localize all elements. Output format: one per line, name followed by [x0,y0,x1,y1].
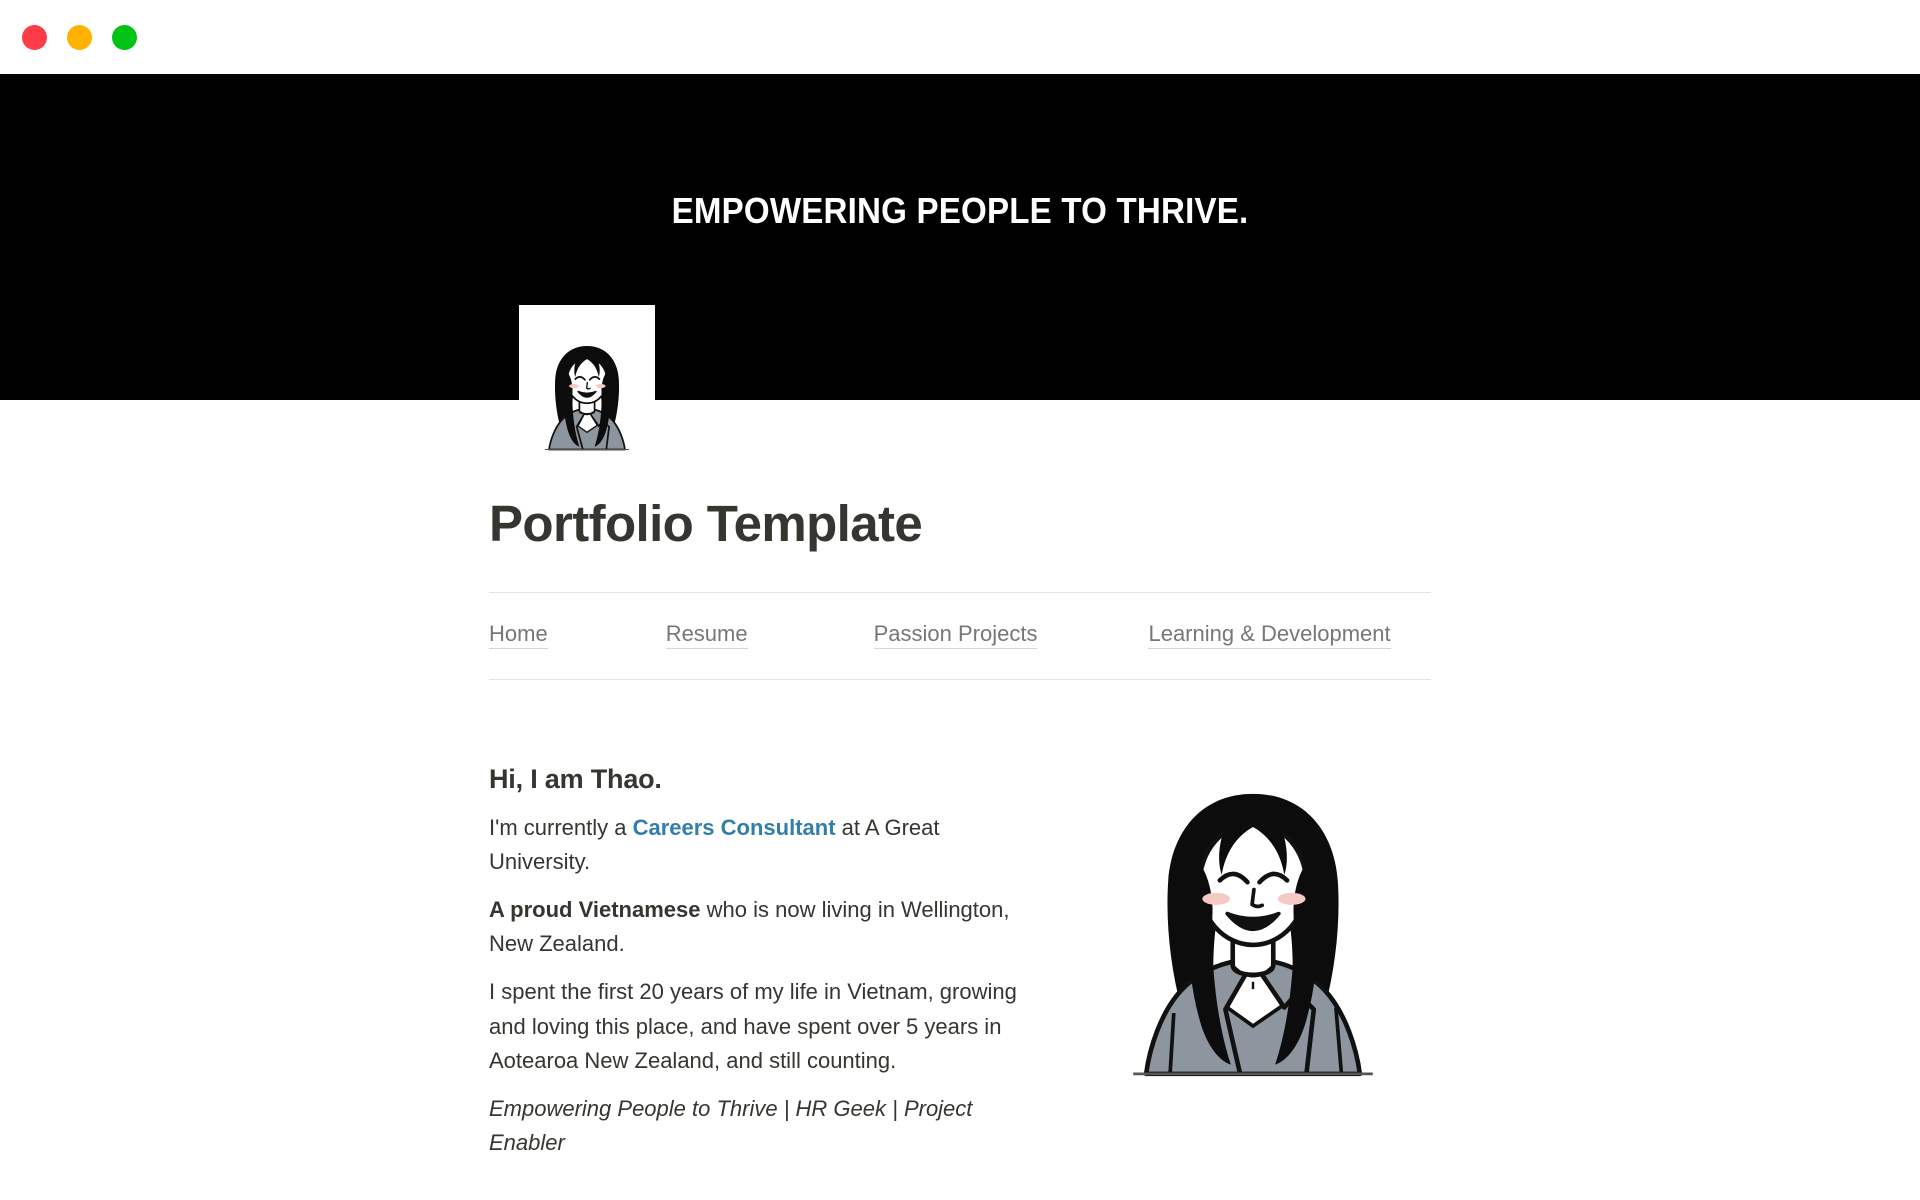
intro-text-column: Hi, I am Thao. I'm currently a Careers C… [489,764,1034,1174]
intro-paragraph-origin: A proud Vietnamese who is now living in … [489,893,1034,961]
intro-tagline: Empowering People to Thrive | HR Geek | … [489,1092,1034,1160]
page-content: Portfolio Template Home Resume Passion P… [489,400,1431,1174]
hero-tagline: EMPOWERING PEOPLE TO THRIVE. [77,190,1843,232]
minimize-window-button[interactable] [67,25,92,50]
avatar-illustration-icon [521,307,653,472]
nav-item-passion-projects[interactable]: Passion Projects [874,623,1038,649]
window-title-bar [0,0,1920,74]
traffic-light-group [22,25,137,50]
page-title: Portfolio Template [489,496,1431,552]
intro-origin-bold: A proud Vietnamese [489,897,701,922]
hero-banner: EMPOWERING PEOPLE TO THRIVE. [0,74,1920,400]
nav-item-resume[interactable]: Resume [666,623,748,649]
intro-illustration [1034,764,1431,1092]
intro-heading: Hi, I am Thao. [489,764,1034,795]
intro-paragraph-role: I'm currently a Careers Consultant at A … [489,811,1034,879]
intro-role-prefix: I'm currently a [489,815,633,840]
nav-item-learning-and-development[interactable]: Learning & Development [1148,623,1390,649]
intro-paragraph-story: I spent the first 20 years of my life in… [489,975,1034,1077]
intro-section: Hi, I am Thao. I'm currently a Careers C… [489,680,1431,1174]
profile-avatar [519,305,655,470]
portrait-illustration-icon [1103,772,1403,1092]
zoom-window-button[interactable] [112,25,137,50]
close-window-button[interactable] [22,25,47,50]
primary-navigation: Home Resume Passion Projects Learning & … [489,593,1431,679]
careers-consultant-link[interactable]: Careers Consultant [633,815,836,840]
nav-item-home[interactable]: Home [489,623,548,649]
